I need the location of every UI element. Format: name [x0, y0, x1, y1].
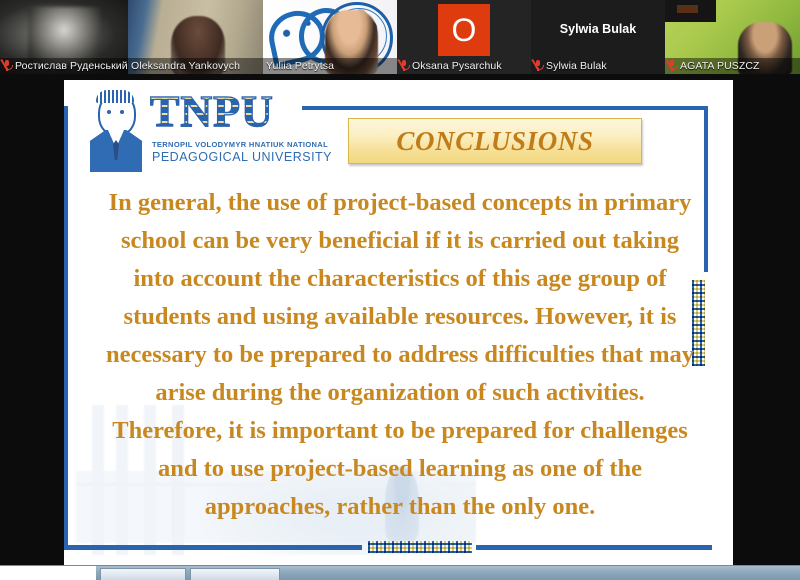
participant-namebar: Sylwia Bulak — [531, 58, 665, 74]
participant-namebar: Yuliia Petrytsa — [263, 58, 397, 74]
participant-tile[interactable]: Oleksandra Yankovych — [128, 0, 263, 74]
slide-border-bottom-right — [476, 545, 712, 550]
shared-slide: TNPU TERNOPIL VOLODYMYR HNATIUK NATIONAL… — [64, 80, 733, 567]
slide-title: CONCLUSIONS — [396, 126, 593, 157]
taskbar-button[interactable] — [190, 568, 280, 580]
taskbar-button[interactable] — [100, 568, 186, 580]
mic-off-icon — [3, 60, 12, 72]
participant-tile-active-speaker[interactable]: Yuliia Petrytsa — [263, 0, 397, 74]
slide-border-left — [64, 106, 68, 550]
taskbar[interactable] — [0, 565, 800, 580]
screen-root: Ростислав Руденський Oleksandra Yankovyc… — [0, 0, 800, 580]
avatar-initial: O — [452, 14, 477, 46]
logo-wordmark: TNPU — [150, 90, 274, 134]
participant-name: Ростислав Руденський — [15, 60, 128, 72]
participant-name: Yuliia Petrytsa — [266, 60, 334, 72]
participant-name: Oksana Pysarchuk — [412, 60, 502, 72]
participant-name: Sylwia Bulak — [546, 60, 607, 72]
tnpu-logo: TNPU TERNOPIL VOLODYMYR HNATIUK NATIONAL… — [90, 88, 302, 172]
participant-tile[interactable]: Ростислав Руденський — [0, 0, 128, 74]
mic-off-icon — [400, 60, 409, 72]
slide-border-right — [704, 106, 708, 272]
logo-subtitle-line1: TERNOPIL VOLODYMYR HNATIUK NATIONAL — [152, 140, 328, 149]
participant-tile[interactable]: O Oksana Pysarchuk — [397, 0, 531, 74]
hnatiuk-portrait-icon — [90, 92, 142, 170]
slide-title-box: CONCLUSIONS — [348, 118, 642, 164]
participant-filmstrip: Ростислав Руденський Oleksandra Yankovyc… — [0, 0, 800, 74]
avatar: O — [438, 4, 490, 56]
participant-tile[interactable]: Sylwia Bulak Sylwia Bulak — [531, 0, 665, 74]
participant-name: Oleksandra Yankovych — [131, 60, 240, 72]
taskbar-left-pad — [0, 566, 96, 580]
slide-body-text: In general, the use of project-based con… — [98, 184, 702, 526]
slide-border-top — [302, 106, 708, 110]
participant-tile[interactable]: AGATA PUSZCZ — [665, 0, 800, 74]
participant-namebar: Oksana Pysarchuk — [397, 58, 531, 74]
participant-namebar: Ростислав Руденський — [0, 58, 128, 74]
ornament-bottom — [368, 541, 472, 553]
mic-off-icon — [668, 60, 677, 72]
participant-namebar: AGATA PUSZCZ — [665, 58, 800, 74]
participant-namebar: Oleksandra Yankovych — [128, 58, 263, 74]
participant-name: AGATA PUSZCZ — [680, 60, 760, 72]
logo-subtitle-line2: PEDAGOGICAL UNIVERSITY — [152, 150, 332, 164]
slide-border-bottom-left — [68, 545, 362, 550]
participant-display-name: Sylwia Bulak — [531, 22, 665, 36]
video-overlay-bar — [665, 0, 716, 22]
mic-off-icon — [534, 60, 543, 72]
